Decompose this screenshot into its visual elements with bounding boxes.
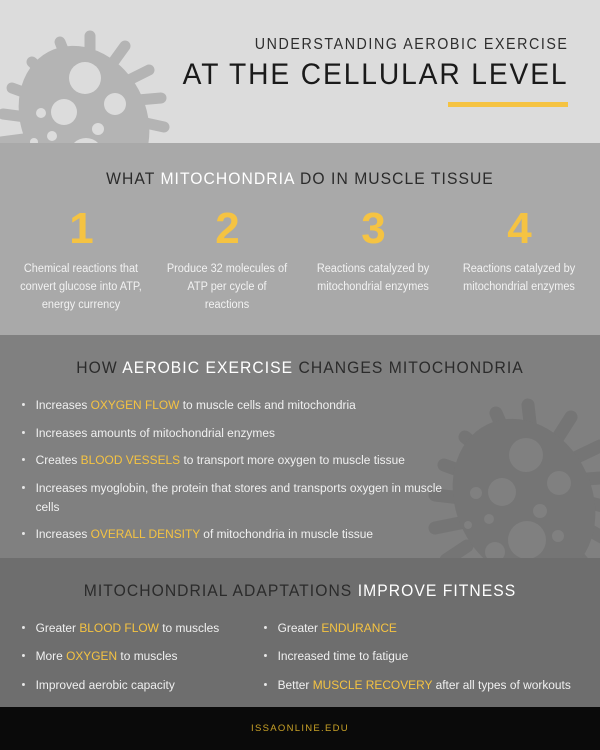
list-item: Increases OVERALL DENSITY of mitochondri… bbox=[22, 525, 443, 544]
heading-part-1: HOW bbox=[76, 359, 122, 377]
header-title-block: UNDERSTANDING AEROBIC EXERCISE AT THE CE… bbox=[158, 36, 569, 107]
list-item: Increases amounts of mitochondrial enzym… bbox=[22, 424, 443, 443]
item-text: Reactions catalyzed by mitochondrial enz… bbox=[311, 261, 435, 297]
bullet-post: to muscles bbox=[159, 621, 219, 635]
bullet-post: of mitochondria in muscle tissue bbox=[200, 527, 373, 541]
heading-highlight: IMPROVE FITNESS bbox=[358, 582, 517, 600]
bullet-highlight: OXYGEN FLOW bbox=[91, 398, 180, 412]
bullet-pre: Increases bbox=[36, 398, 91, 412]
item-text: Produce 32 molecules of ATP per cycle of… bbox=[165, 261, 289, 314]
bullet-highlight: OVERALL DENSITY bbox=[91, 527, 200, 541]
heading-part-1: WHAT bbox=[106, 170, 160, 188]
numbered-item: 3 Reactions catalyzed by mitochondrial e… bbox=[300, 207, 446, 314]
bullet-post: to muscle cells and mitochondria bbox=[179, 398, 355, 412]
footer-bar: ISSAONLINE.EDU bbox=[0, 707, 600, 750]
list-item: Improved aerobic capacity bbox=[22, 676, 247, 694]
bullet-highlight: BLOOD FLOW bbox=[79, 621, 159, 635]
list-item: Increased time to fatigue bbox=[264, 647, 571, 665]
bullet-pre: More bbox=[36, 649, 66, 663]
bullet-pre: Greater bbox=[36, 621, 80, 635]
section-adaptations-improve-fitness: MITOCHONDRIAL ADAPTATIONS IMPROVE FITNES… bbox=[0, 558, 600, 707]
heading-part-2: CHANGES MITOCHONDRIA bbox=[293, 359, 524, 377]
section-heading-changes: HOW AEROBIC EXERCISE CHANGES MITOCHONDRI… bbox=[15, 335, 585, 378]
bullet-pre: Creates bbox=[36, 453, 81, 467]
numbered-items-row: 1 Chemical reactions that convert glucos… bbox=[0, 207, 600, 314]
header-section: UNDERSTANDING AEROBIC EXERCISE AT THE CE… bbox=[0, 0, 600, 143]
item-number: 1 bbox=[16, 207, 146, 251]
numbered-item: 4 Reactions catalyzed by mitochondrial e… bbox=[446, 207, 592, 314]
fitness-columns: Greater BLOOD FLOW to muscles More OXYGE… bbox=[0, 619, 600, 704]
item-text: Reactions catalyzed by mitochondrial enz… bbox=[457, 261, 581, 297]
item-number: 4 bbox=[454, 207, 584, 251]
heading-part-1: MITOCHONDRIAL ADAPTATIONS bbox=[84, 582, 358, 600]
numbered-item: 2 Produce 32 molecules of ATP per cycle … bbox=[154, 207, 300, 314]
infographic-page: UNDERSTANDING AEROBIC EXERCISE AT THE CE… bbox=[0, 0, 600, 750]
bullet-highlight: ENDURANCE bbox=[321, 621, 397, 635]
bullet-pre: Increases myoglobin, the protein that st… bbox=[36, 481, 442, 514]
bullet-post: after all types of workouts bbox=[432, 678, 571, 692]
bullet-pre: Increases bbox=[36, 527, 91, 541]
bullet-pre: Better bbox=[277, 678, 312, 692]
bullet-highlight: BLOOD VESSELS bbox=[81, 453, 180, 467]
list-item: More OXYGEN to muscles bbox=[22, 647, 247, 665]
heading-highlight: AEROBIC EXERCISE bbox=[122, 359, 293, 377]
list-item: Creates BLOOD VESSELS to transport more … bbox=[22, 451, 443, 470]
item-number: 3 bbox=[308, 207, 438, 251]
bullet-post: to muscles bbox=[117, 649, 177, 663]
section-what-mitochondria-do: WHAT MITOCHONDRIA DO IN MUSCLE TISSUE 1 … bbox=[0, 143, 600, 335]
bullet-pre: Increases amounts of mitochondrial enzym… bbox=[36, 426, 275, 440]
section-heading-mitochondria: WHAT MITOCHONDRIA DO IN MUSCLE TISSUE bbox=[15, 143, 585, 189]
section-heading-fitness: MITOCHONDRIAL ADAPTATIONS IMPROVE FITNES… bbox=[15, 558, 585, 601]
heading-highlight: MITOCHONDRIA bbox=[160, 170, 294, 188]
footer-url[interactable]: ISSAONLINE.EDU bbox=[251, 723, 349, 734]
fitness-left-column: Greater BLOOD FLOW to muscles More OXYGE… bbox=[22, 619, 254, 704]
bullet-highlight: OXYGEN bbox=[66, 649, 117, 663]
title-accent-bar bbox=[448, 102, 568, 107]
bullet-highlight: MUSCLE RECOVERY bbox=[312, 678, 432, 692]
item-number: 2 bbox=[162, 207, 292, 251]
changes-bullet-list: Increases OXYGEN FLOW to muscle cells an… bbox=[0, 396, 600, 544]
fitness-right-list: Greater ENDURANCE Increased time to fati… bbox=[264, 619, 580, 694]
list-item: Increases OXYGEN FLOW to muscle cells an… bbox=[22, 396, 443, 415]
page-title: AT THE CELLULAR LEVEL bbox=[182, 58, 568, 92]
list-item: Greater BLOOD FLOW to muscles bbox=[22, 619, 247, 637]
item-text: Chemical reactions that convert glucose … bbox=[19, 261, 143, 314]
header-eyebrow: UNDERSTANDING AEROBIC EXERCISE bbox=[190, 36, 568, 54]
numbered-item: 1 Chemical reactions that convert glucos… bbox=[8, 207, 154, 314]
list-item: Increases myoglobin, the protein that st… bbox=[22, 479, 443, 516]
list-item: Greater ENDURANCE bbox=[264, 619, 571, 637]
list-item: Better MUSCLE RECOVERY after all types o… bbox=[264, 676, 571, 694]
bullet-post: to transport more oxygen to muscle tissu… bbox=[180, 453, 405, 467]
heading-part-2: DO IN MUSCLE TISSUE bbox=[295, 170, 494, 188]
bullet-pre: Improved aerobic capacity bbox=[36, 678, 175, 692]
fitness-left-list: Greater BLOOD FLOW to muscles More OXYGE… bbox=[22, 619, 254, 694]
section-how-exercise-changes: HOW AEROBIC EXERCISE CHANGES MITOCHONDRI… bbox=[0, 335, 600, 558]
mitochondria-icon bbox=[0, 14, 184, 143]
bullet-pre: Greater bbox=[277, 621, 321, 635]
bullet-pre: Increased time to fatigue bbox=[277, 649, 408, 663]
fitness-right-column: Greater ENDURANCE Increased time to fati… bbox=[254, 619, 580, 704]
